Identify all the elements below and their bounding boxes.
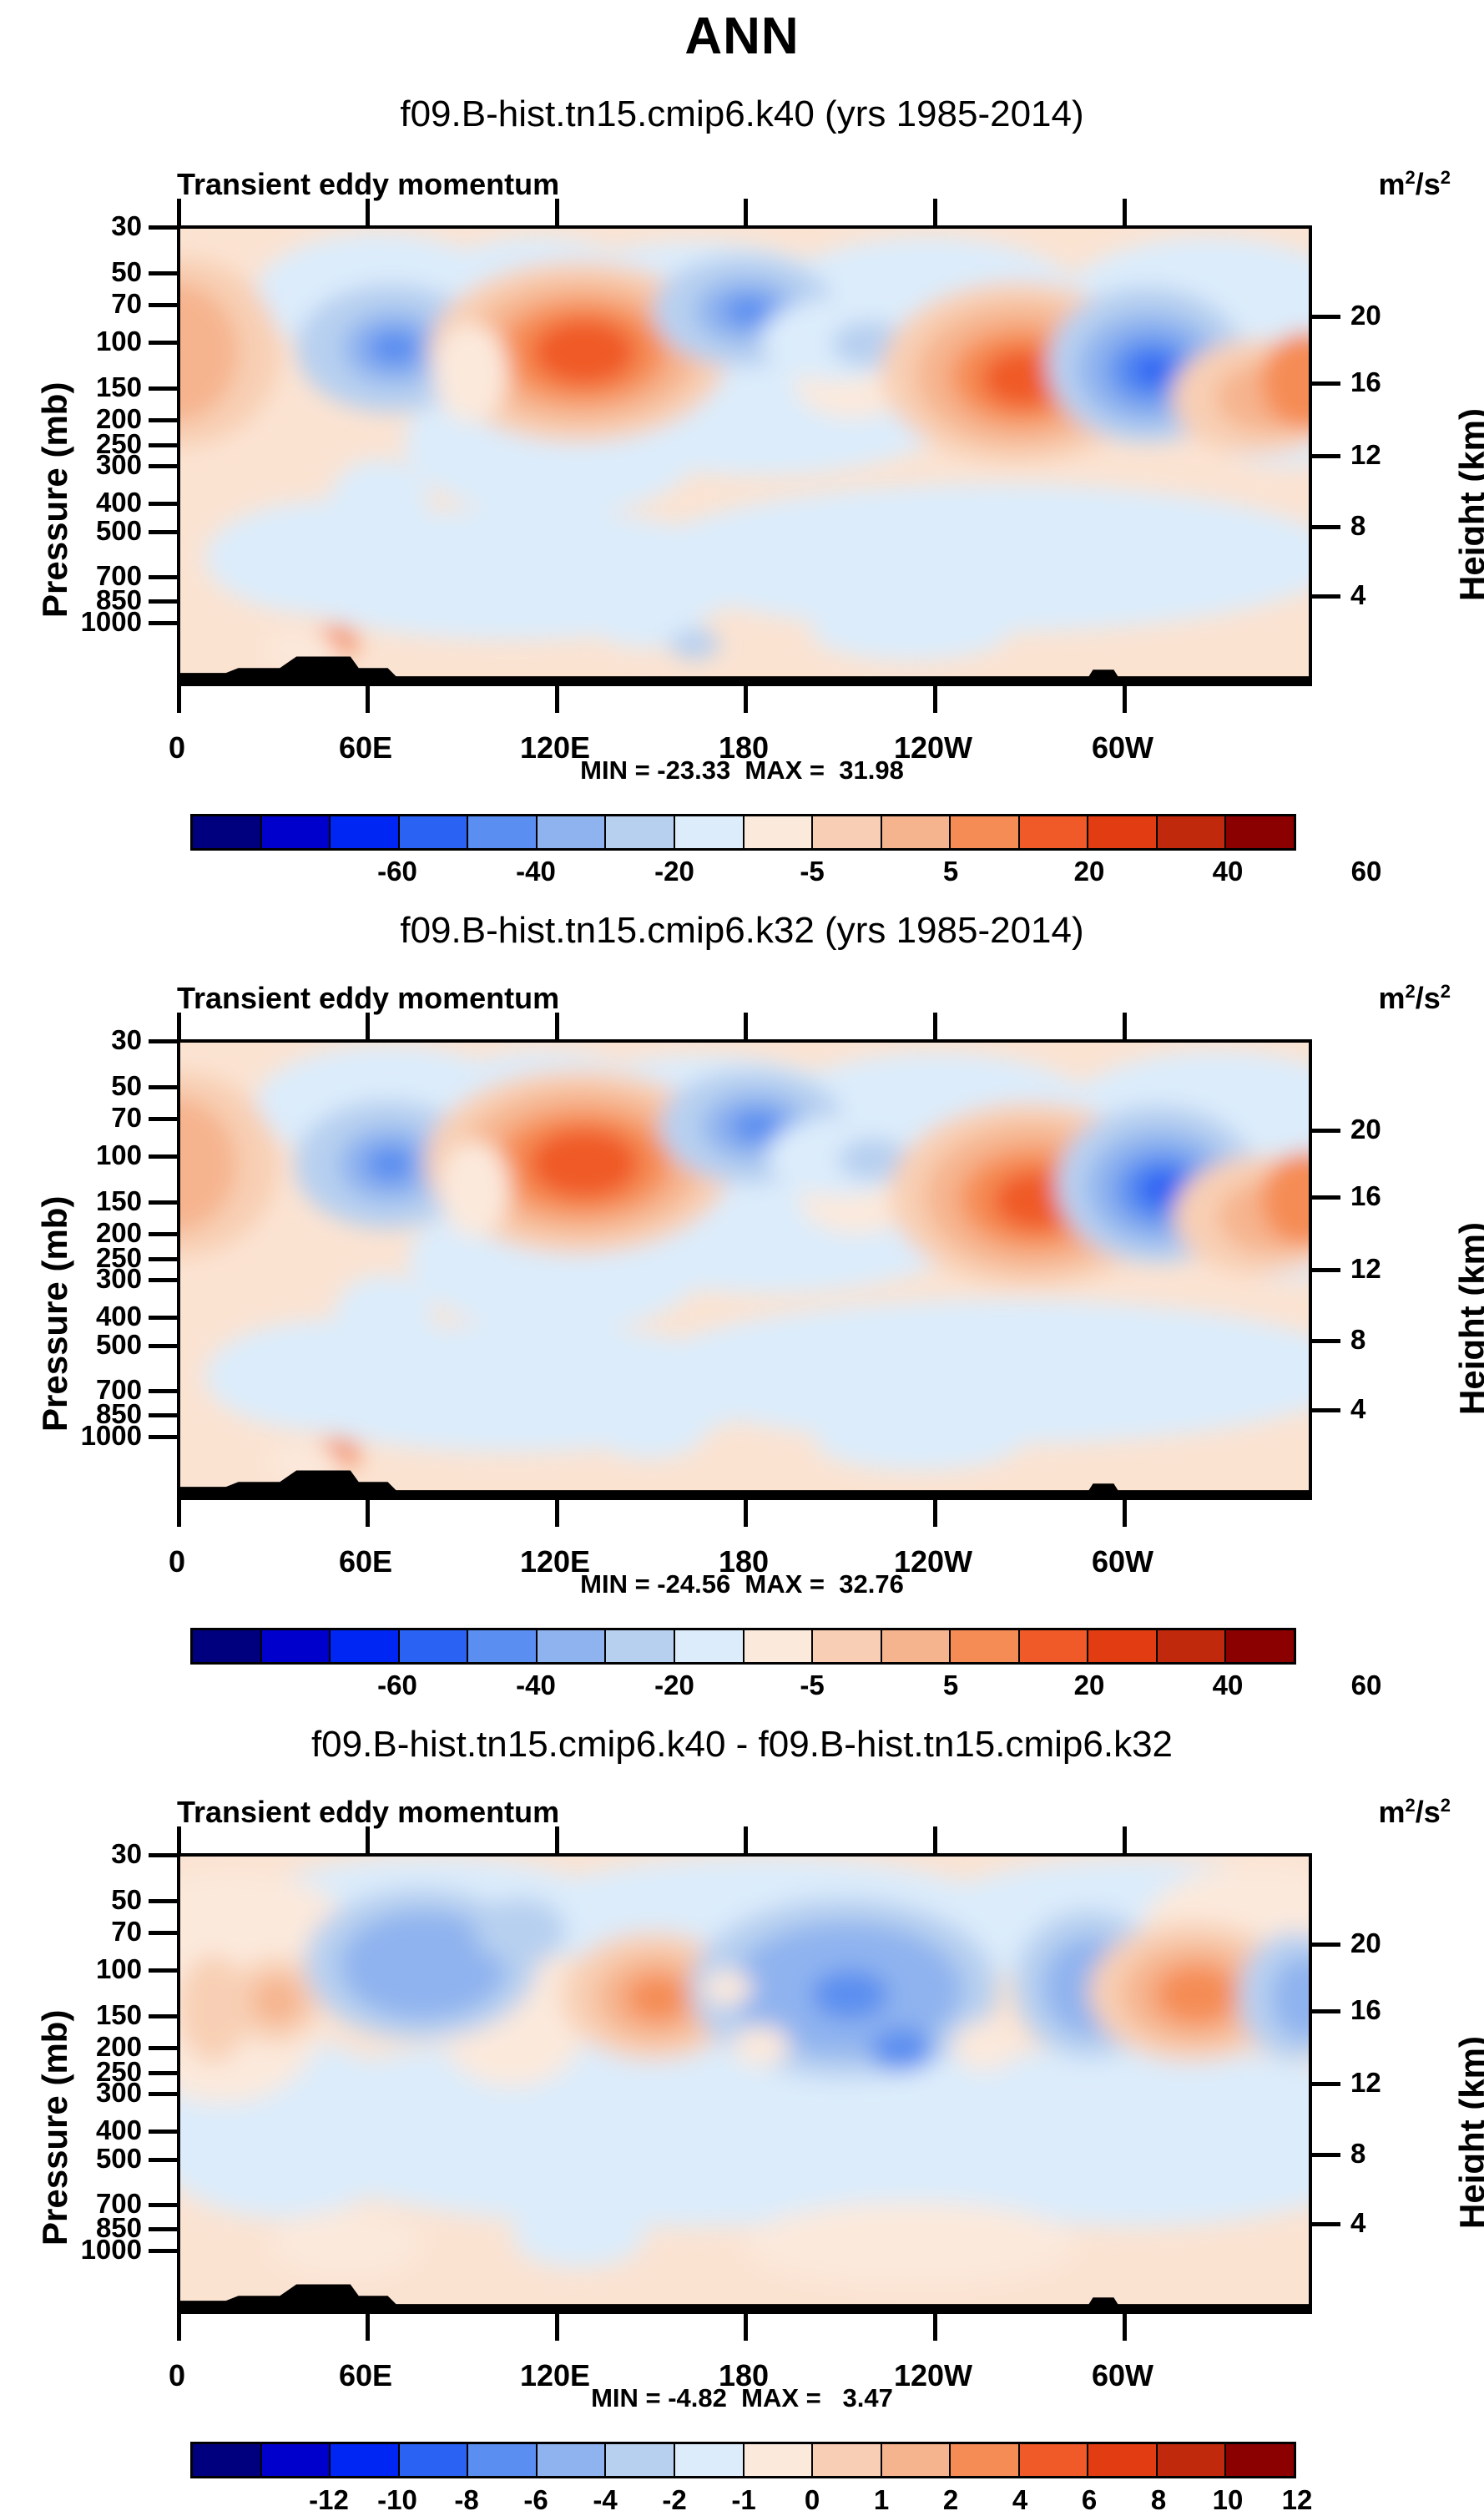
cbar-cell xyxy=(1158,816,1227,848)
panel-1-left-subtitle: Transient eddy momentum xyxy=(177,167,559,202)
panel-3-plot-area[interactable] xyxy=(177,1853,1312,2314)
ytickmark xyxy=(149,2092,177,2096)
ytick-400: 400 xyxy=(50,1301,142,1332)
rtick-20: 20 xyxy=(1350,1114,1381,1145)
xtickmark xyxy=(1123,1826,1127,1853)
panel-1-units-sup2: 2 xyxy=(1441,167,1451,188)
panel-2-colorbar[interactable] xyxy=(190,1628,1296,1665)
xtickmark xyxy=(555,1500,559,1527)
xtickmark xyxy=(555,1013,559,1039)
ytickmark xyxy=(149,2227,177,2231)
cbar-cell xyxy=(538,1630,607,1662)
cbar-cell xyxy=(262,816,331,848)
panel-2-units-base: m xyxy=(1378,981,1405,1015)
rtickmark xyxy=(1312,315,1340,319)
rtick-4: 4 xyxy=(1350,2207,1365,2239)
rtickmark xyxy=(1312,594,1340,599)
cbar-cell xyxy=(606,816,675,848)
ytickmark xyxy=(149,271,177,275)
ytickmark xyxy=(149,1435,177,1439)
cbar-cell xyxy=(400,816,469,848)
panel-2-right-y-axis-label: Height (km) xyxy=(1452,1222,1484,1415)
ytick-1000: 1000 xyxy=(33,1420,142,1452)
ytick-30: 30 xyxy=(50,210,142,242)
rtickmark xyxy=(1312,1408,1340,1412)
rtickmark xyxy=(1312,1195,1340,1200)
ytickmark xyxy=(149,1413,177,1417)
panel-3-left-subtitle: Transient eddy momentum xyxy=(177,1795,559,1830)
ytickmark xyxy=(149,1931,177,1935)
cbl-p20: 20 xyxy=(1074,856,1105,887)
ytick-50: 50 xyxy=(50,1070,142,1102)
xtickmark xyxy=(1123,686,1127,713)
cbar-cell xyxy=(1226,1630,1294,1662)
cbl-p8: 8 xyxy=(1151,2484,1166,2516)
cbar-cell xyxy=(1020,816,1089,848)
panel-2-minmax: MIN = -24.56 MAX = 32.76 xyxy=(0,1569,1484,1599)
rtickmark xyxy=(1312,2009,1340,2013)
cbar-cell xyxy=(1158,1630,1227,1662)
ytickmark xyxy=(149,1257,177,1261)
cbl-p40: 40 xyxy=(1213,856,1244,887)
ytick-70: 70 xyxy=(50,288,142,320)
xtickmark xyxy=(366,2314,370,2341)
rtick-8: 8 xyxy=(1350,1324,1365,1356)
xtickmark xyxy=(366,1500,370,1527)
cbar-cell xyxy=(882,1630,951,1662)
ytick-400: 400 xyxy=(50,2114,142,2146)
ytickmark xyxy=(149,341,177,345)
cbl-p4: 4 xyxy=(1012,2484,1027,2516)
ytick-150: 150 xyxy=(50,371,142,403)
ytickmark xyxy=(149,1085,177,1089)
cbl-n1: -1 xyxy=(731,2484,755,2516)
panel-1-units-mid: /s xyxy=(1416,167,1441,201)
panel-1-minmax: MIN = -23.33 MAX = 31.98 xyxy=(0,755,1484,786)
ytickmark xyxy=(149,2158,177,2162)
cbl-p2: 2 xyxy=(943,2484,958,2516)
panel-3-units-base: m xyxy=(1378,1795,1405,1829)
xtickmark xyxy=(177,686,181,713)
ytickmark xyxy=(149,621,177,625)
cbl-p1: 1 xyxy=(874,2484,889,2516)
rtick-16: 16 xyxy=(1350,1994,1381,2026)
xtickmark xyxy=(933,199,937,225)
ytick-30: 30 xyxy=(50,1024,142,1056)
panel-2-units-mid: /s xyxy=(1416,981,1441,1015)
panel-2-title: f09.B-hist.tn15.cmip6.k32 (yrs 1985-2014… xyxy=(0,910,1484,952)
rtick-20: 20 xyxy=(1350,300,1381,331)
ytickmark xyxy=(149,2014,177,2018)
panel-2-units-sup1: 2 xyxy=(1405,981,1415,1002)
cbl-p60: 60 xyxy=(1351,1670,1382,1701)
cbl-n60: -60 xyxy=(377,856,417,887)
rtickmark xyxy=(1312,454,1340,458)
cbl-n5: -5 xyxy=(800,1670,824,1701)
ytickmark xyxy=(149,1389,177,1393)
cbar-cell xyxy=(262,1630,331,1662)
cbl-n8: -8 xyxy=(454,2484,478,2516)
ytickmark xyxy=(149,2249,177,2253)
xtickmark xyxy=(933,686,937,713)
xtickmark xyxy=(177,1826,181,1853)
cbl-p20: 20 xyxy=(1074,1670,1105,1701)
rtick-12: 12 xyxy=(1350,1253,1381,1285)
rtick-12: 12 xyxy=(1350,2067,1381,2099)
panel-1-title: f09.B-hist.tn15.cmip6.k40 (yrs 1985-2014… xyxy=(0,93,1484,135)
ytickmark xyxy=(149,2203,177,2207)
xtickmark xyxy=(555,686,559,713)
xtickmark xyxy=(744,1013,748,1039)
cbl-p5: 5 xyxy=(943,1670,958,1701)
panel-3-units-sup1: 2 xyxy=(1405,1795,1415,1816)
ytickmark xyxy=(149,386,177,391)
ytickmark xyxy=(149,1278,177,1282)
panel-1-colorbar[interactable] xyxy=(190,814,1296,851)
cbar-cell xyxy=(1088,816,1158,848)
ytick-500: 500 xyxy=(50,515,142,547)
ytickmark xyxy=(149,303,177,307)
ytick-500: 500 xyxy=(50,1329,142,1361)
cbar-cell xyxy=(745,816,814,848)
ytickmark xyxy=(149,418,177,422)
cbar-cell xyxy=(331,1630,400,1662)
ytickmark xyxy=(149,502,177,506)
rtickmark xyxy=(1312,2153,1340,2157)
rtickmark xyxy=(1312,1268,1340,1272)
cbl-n5: -5 xyxy=(800,856,824,887)
panel-3-colorbar-labels: -12 -10 -8 -6 -4 -2 -1 0 1 2 4 6 8 10 12 xyxy=(190,2448,1296,2484)
panel-2-left-subtitle: Transient eddy momentum xyxy=(177,981,559,1016)
cbar-cell xyxy=(538,816,607,848)
panel-3-units-sup2: 2 xyxy=(1441,1795,1451,1816)
cbl-p6: 6 xyxy=(1082,2484,1097,2516)
ytick-100: 100 xyxy=(50,326,142,357)
xtickmark xyxy=(366,199,370,225)
ytickmark xyxy=(149,1344,177,1348)
xtickmark xyxy=(933,1013,937,1039)
ytickmark xyxy=(149,1154,177,1159)
rtickmark xyxy=(1312,2222,1340,2226)
panel-3-right-y-axis-label: Height (km) xyxy=(1452,2036,1484,2229)
xtickmark xyxy=(933,2314,937,2341)
panel-3-units: m2/s2 xyxy=(1378,1795,1451,1830)
rtick-16: 16 xyxy=(1350,366,1381,398)
ytick-1000: 1000 xyxy=(33,606,142,638)
panel-3-contour-field xyxy=(180,1857,1309,2311)
rtickmark xyxy=(1312,1943,1340,1947)
rtick-8: 8 xyxy=(1350,2138,1365,2170)
cbar-cell xyxy=(193,1630,262,1662)
cbar-cell xyxy=(813,816,882,848)
ytick-300: 300 xyxy=(50,1263,142,1295)
ytickmark xyxy=(149,1117,177,1121)
ytickmark xyxy=(149,2046,177,2050)
ytick-500: 500 xyxy=(50,2143,142,2175)
rtick-4: 4 xyxy=(1350,579,1365,611)
cbar-cell xyxy=(400,1630,469,1662)
xtickmark xyxy=(933,1826,937,1853)
ytickmark xyxy=(149,464,177,468)
xtickmark xyxy=(555,1826,559,1853)
cbl-n20: -20 xyxy=(654,856,694,887)
cbar-cell xyxy=(675,1630,745,1662)
rtick-20: 20 xyxy=(1350,1927,1381,1959)
panel-2-units-sup2: 2 xyxy=(1441,981,1451,1002)
xtickmark xyxy=(177,1500,181,1527)
cbar-cell xyxy=(882,816,951,848)
xtickmark xyxy=(366,1826,370,1853)
xtickmark xyxy=(1123,2314,1127,2341)
cbl-p40: 40 xyxy=(1213,1670,1244,1701)
xtickmark xyxy=(744,686,748,713)
ytickmark xyxy=(149,2130,177,2134)
ytick-1000: 1000 xyxy=(33,2234,142,2266)
rtick-8: 8 xyxy=(1350,510,1365,542)
cbl-n10: -10 xyxy=(377,2484,417,2516)
rtickmark xyxy=(1312,381,1340,386)
xtickmark xyxy=(366,1013,370,1039)
panel-2-units: m2/s2 xyxy=(1378,981,1451,1016)
panel-2-contour-field xyxy=(180,1043,1309,1497)
xtickmark xyxy=(744,1500,748,1527)
rtickmark xyxy=(1312,2082,1340,2086)
cbar-cell xyxy=(951,816,1020,848)
rtickmark xyxy=(1312,1129,1340,1133)
xtickmark xyxy=(744,2314,748,2341)
ytick-50: 50 xyxy=(50,1884,142,1916)
cbl-p10: 10 xyxy=(1213,2484,1244,2516)
ytick-150: 150 xyxy=(50,1185,142,1217)
cbl-n60: -60 xyxy=(377,1670,417,1701)
cbar-cell xyxy=(1020,1630,1089,1662)
panel-1-right-y-axis-label: Height (km) xyxy=(1452,408,1484,601)
xtickmark xyxy=(1123,1013,1127,1039)
ytickmark xyxy=(149,2071,177,2075)
cbl-n6: -6 xyxy=(523,2484,548,2516)
panel-1-plot-area[interactable] xyxy=(177,225,1312,686)
rtickmark xyxy=(1312,525,1340,529)
ytick-300: 300 xyxy=(50,449,142,481)
cbar-cell xyxy=(951,1630,1020,1662)
ytick-50: 50 xyxy=(50,256,142,288)
ytick-100: 100 xyxy=(50,1953,142,1985)
ytickmark xyxy=(149,1316,177,1320)
cbl-p60: 60 xyxy=(1351,856,1382,887)
rtick-12: 12 xyxy=(1350,439,1381,471)
cbl-0: 0 xyxy=(805,2484,820,2516)
cbar-cell xyxy=(331,816,400,848)
panel-3-minmax: MIN = -4.82 MAX = 3.47 xyxy=(0,2383,1484,2413)
panel-1-units: m2/s2 xyxy=(1378,167,1451,202)
cbl-n2: -2 xyxy=(662,2484,686,2516)
cbar-cell xyxy=(745,1630,814,1662)
rtickmark xyxy=(1312,1339,1340,1343)
ytickmark xyxy=(149,1200,177,1205)
panel-3-units-mid: /s xyxy=(1416,1795,1441,1829)
cbar-cell xyxy=(675,816,745,848)
cbar-cell xyxy=(1088,1630,1158,1662)
cbar-cell xyxy=(193,816,262,848)
cbar-cell xyxy=(813,1630,882,1662)
xtickmark xyxy=(1123,1500,1127,1527)
ytickmark xyxy=(149,1899,177,1903)
xtickmark xyxy=(744,199,748,225)
figure-main-title: ANN xyxy=(0,7,1484,66)
ytick-150: 150 xyxy=(50,1999,142,2031)
cbl-p12: 12 xyxy=(1282,2484,1313,2516)
cbl-n4: -4 xyxy=(593,2484,617,2516)
ytickmark xyxy=(149,1232,177,1236)
ytickmark xyxy=(149,1853,177,1857)
rtick-16: 16 xyxy=(1350,1180,1381,1212)
panel-1-contour-field xyxy=(180,229,1309,683)
ytick-70: 70 xyxy=(50,1102,142,1134)
cbar-cell xyxy=(1226,816,1294,848)
ytickmark xyxy=(149,1039,177,1043)
ytick-30: 30 xyxy=(50,1838,142,1870)
cbar-cell xyxy=(468,816,538,848)
xtickmark xyxy=(555,2314,559,2341)
panel-1-colorbar-labels: -60 -40 -20 -5 5 20 40 60 xyxy=(190,856,1296,892)
cbar-cell xyxy=(468,1630,538,1662)
ytickmark xyxy=(149,599,177,604)
ytick-400: 400 xyxy=(50,487,142,518)
rtick-4: 4 xyxy=(1350,1393,1365,1425)
cbar-cell xyxy=(606,1630,675,1662)
ytickmark xyxy=(149,530,177,534)
ytick-100: 100 xyxy=(50,1139,142,1171)
xtickmark xyxy=(177,2314,181,2341)
panel-1-units-base: m xyxy=(1378,167,1405,201)
ytickmark xyxy=(149,443,177,447)
xtickmark xyxy=(366,686,370,713)
ytickmark xyxy=(149,575,177,579)
panel-2-colorbar-labels: -60 -40 -20 -5 5 20 40 60 xyxy=(190,1670,1296,1706)
cbl-n20: -20 xyxy=(654,1670,694,1701)
panel-2-plot-area[interactable] xyxy=(177,1039,1312,1500)
ytick-300: 300 xyxy=(50,2077,142,2109)
panel-1-units-sup1: 2 xyxy=(1405,167,1415,188)
xtickmark xyxy=(177,199,181,225)
ytick-70: 70 xyxy=(50,1916,142,1948)
cbl-n12: -12 xyxy=(309,2484,349,2516)
cbl-n40: -40 xyxy=(516,1670,556,1701)
xtickmark xyxy=(933,1500,937,1527)
xtickmark xyxy=(744,1826,748,1853)
panel-3-title: f09.B-hist.tn15.cmip6.k40 - f09.B-hist.t… xyxy=(0,1724,1484,1766)
xtickmark xyxy=(555,199,559,225)
xtickmark xyxy=(177,1013,181,1039)
ytickmark xyxy=(149,225,177,230)
ytickmark xyxy=(149,1968,177,1973)
cbl-p5: 5 xyxy=(943,856,958,887)
xtickmark xyxy=(1123,199,1127,225)
cbl-n40: -40 xyxy=(516,856,556,887)
